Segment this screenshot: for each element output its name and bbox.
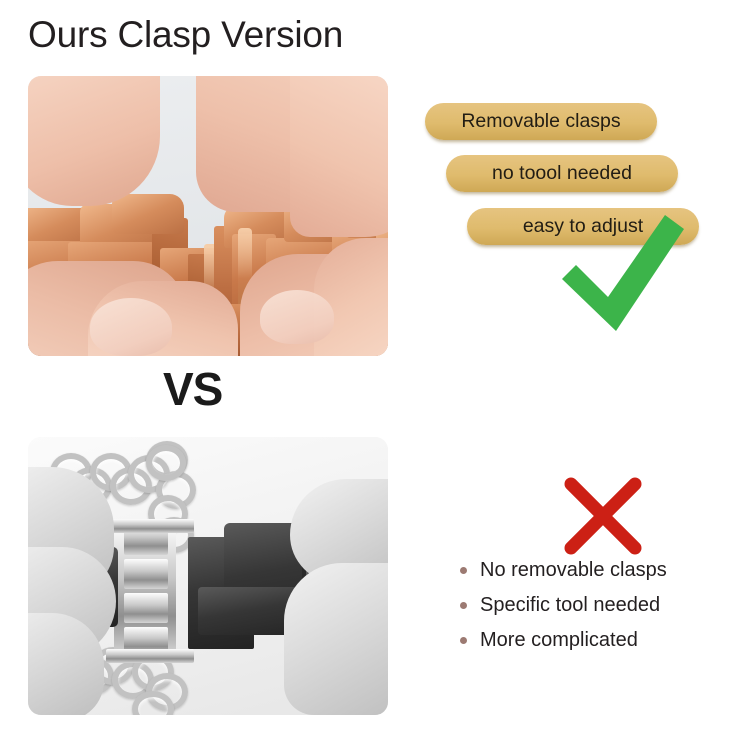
pro-pill-label: Removable clasps — [461, 110, 620, 133]
bullet-dot-icon — [460, 637, 467, 644]
infographic-page: Ours Clasp Version — [0, 0, 750, 750]
chain-link — [146, 445, 186, 481]
rose-gold-bracelet-clasp-photo — [28, 76, 388, 356]
list-item: More complicated — [460, 623, 710, 658]
list-item: Specific tool needed — [460, 588, 710, 623]
bullet-dot-icon — [460, 567, 467, 574]
vs-label: VS — [163, 362, 222, 416]
con-label: Specific tool needed — [480, 594, 660, 617]
cons-list: No removable clasps Specific tool needed… — [460, 553, 710, 658]
list-item: No removable clasps — [460, 553, 710, 588]
con-label: More complicated — [480, 629, 638, 652]
thumb — [314, 238, 388, 356]
band-edge — [106, 649, 194, 663]
finger — [290, 76, 388, 237]
band-link — [124, 559, 168, 589]
band-edge — [106, 519, 194, 533]
bracelet-link — [112, 194, 184, 234]
con-label: No removable clasps — [480, 559, 667, 582]
pro-pill-label: no toool needed — [492, 162, 632, 185]
bullet-dot-icon — [460, 602, 467, 609]
pin-removal-tool-photo — [28, 437, 388, 715]
pro-pill-1[interactable]: Removable clasps — [425, 103, 657, 140]
fingernail — [90, 298, 172, 356]
band-link — [124, 593, 168, 623]
cross-mark-icon — [562, 476, 644, 556]
pro-pill-2[interactable]: no toool needed — [446, 155, 678, 192]
hand — [284, 563, 388, 715]
page-title: Ours Clasp Version — [28, 14, 343, 56]
check-mark-icon — [560, 205, 690, 340]
fingernail — [260, 290, 334, 344]
